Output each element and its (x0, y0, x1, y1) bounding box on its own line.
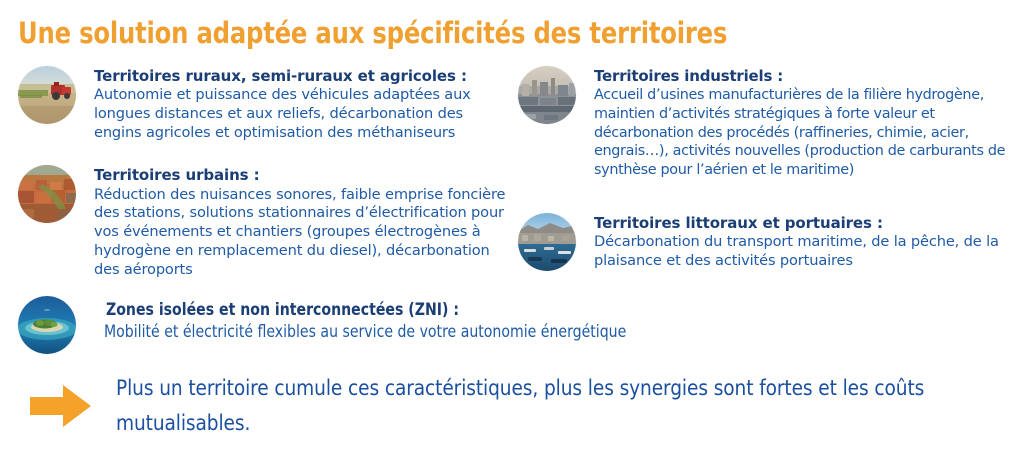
tractor-field-photo (18, 66, 76, 124)
harbour-port-photo (518, 213, 576, 271)
left-column: Territoires ruraux, semi-ruraux et agric… (18, 66, 508, 294)
territory-item-text: Territoires littoraux et portuaires : Dé… (594, 213, 1008, 271)
territory-item-rural: Territoires ruraux, semi-ruraux et agric… (18, 66, 508, 143)
item-heading: Zones isolées et non interconnectées (ZN… (106, 300, 626, 320)
industrial-plant-photo (518, 66, 576, 124)
item-body: Autonomie et puissance des véhicules ada… (94, 86, 508, 143)
item-heading: Territoires ruraux, semi-ruraux et agric… (94, 67, 508, 85)
territory-item-urban: Territoires urbains : Réduction des nuis… (18, 165, 508, 280)
right-arrow-icon (30, 372, 100, 428)
territory-item-text: Territoires industriels : Accueil d’usin… (594, 66, 1008, 180)
item-body: Décarbonation du transport maritime, de … (594, 233, 1008, 271)
item-body: Mobilité et électricité flexibles au ser… (104, 322, 626, 343)
territory-item-text: Territoires ruraux, semi-ruraux et agric… (94, 66, 508, 143)
item-heading: Territoires littoraux et portuaires : (594, 214, 1008, 232)
urban-rooftops-photo (18, 165, 76, 223)
tropical-island-photo (18, 296, 76, 354)
zni-text: Zones isolées et non interconnectées (ZN… (106, 296, 654, 342)
item-body: Accueil d’usines manufacturières de la f… (594, 86, 1008, 180)
territory-item-zni: Zones isolées et non interconnectées (ZN… (18, 296, 818, 354)
conclusion-block: Plus un territoire cumule ces caractéris… (30, 372, 1010, 442)
page-title: Une solution adaptée aux spécificités de… (18, 16, 727, 50)
territory-item-coastal: Territoires littoraux et portuaires : Dé… (518, 213, 1008, 271)
right-column: Territoires industriels : Accueil d’usin… (518, 66, 1008, 285)
conclusion-text: Plus un territoire cumule ces caractéris… (116, 372, 974, 442)
item-heading: Territoires urbains : (94, 166, 508, 184)
territory-item-text: Territoires urbains : Réduction des nuis… (94, 165, 508, 280)
territory-item-industrial: Territoires industriels : Accueil d’usin… (518, 66, 1008, 180)
item-heading: Territoires industriels : (594, 67, 1008, 85)
item-body: Réduction des nuisances sonores, faible … (94, 186, 508, 281)
